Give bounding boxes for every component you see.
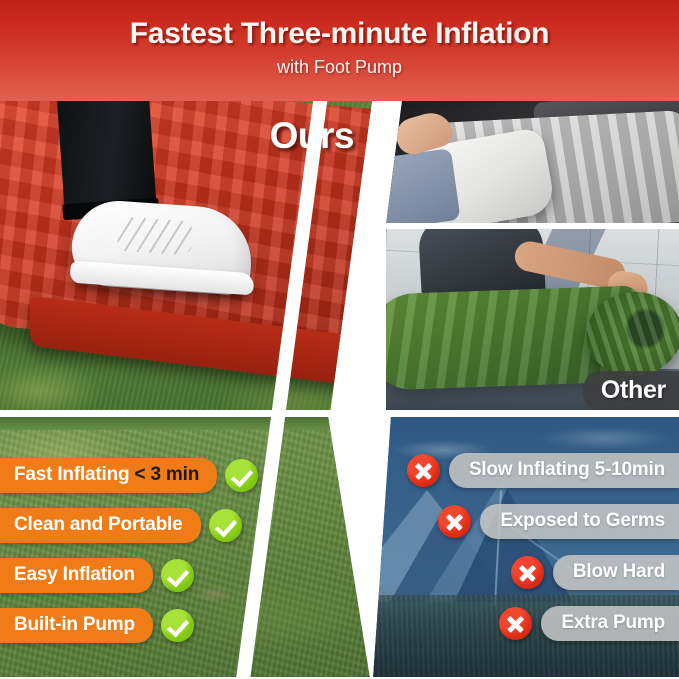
- comparison-infographic: Fastest Three-minute Inflation with Foot…: [0, 0, 679, 679]
- con-label-2: Exposed to Germs: [480, 504, 679, 539]
- person-jeans: [386, 148, 461, 225]
- pro-item-2[interactable]: Clean and Portable: [0, 508, 242, 543]
- con-item-4[interactable]: Extra Pump: [499, 606, 679, 641]
- panel-other-sleeping-bag: Other: [386, 228, 679, 413]
- con-label-4: Extra Pump: [541, 606, 679, 641]
- header-banner: Fastest Three-minute Inflation with Foot…: [0, 0, 679, 101]
- right-column-divider: [380, 223, 679, 229]
- check-icon: [225, 459, 258, 492]
- pro-accent-1: < 3 min: [135, 464, 200, 485]
- pro-text-1: Fast Inflating: [14, 464, 135, 485]
- horizontal-divider-right: [380, 410, 679, 417]
- con-label-1: Slow Inflating 5-10min: [449, 453, 679, 488]
- con-label-3: Blow Hard: [553, 555, 679, 590]
- cross-icon: [511, 556, 544, 589]
- pro-item-4[interactable]: Built-in Pump: [0, 608, 194, 643]
- pro-label-3: Easy Inflation: [0, 558, 153, 593]
- pro-item-1[interactable]: Fast Inflating < 3 min: [0, 458, 258, 493]
- check-icon: [161, 559, 194, 592]
- con-item-1[interactable]: Slow Inflating 5-10min: [407, 453, 679, 488]
- con-item-3[interactable]: Blow Hard: [511, 555, 679, 590]
- pro-label-1: Fast Inflating < 3 min: [0, 458, 217, 493]
- check-icon: [209, 509, 242, 542]
- pro-text-4: Built-in Pump: [14, 614, 135, 635]
- pro-item-3[interactable]: Easy Inflation: [0, 558, 194, 593]
- check-icon: [161, 609, 194, 642]
- horizontal-divider-left: [0, 410, 388, 417]
- sneaker-laces: [117, 216, 193, 255]
- panel-cons: Slow Inflating 5-10min Exposed to Germs …: [373, 416, 679, 679]
- cross-icon: [407, 454, 440, 487]
- page-subtitle: with Foot Pump: [0, 57, 679, 78]
- cross-icon: [438, 505, 471, 538]
- pro-label-2: Clean and Portable: [0, 508, 201, 543]
- grass-top-strip: [0, 416, 370, 430]
- panel-pros: Fast Inflating < 3 min Clean and Portabl…: [0, 416, 370, 679]
- panel-grid: Ours Other Fast In: [0, 101, 679, 679]
- con-item-2[interactable]: Exposed to Germs: [438, 504, 679, 539]
- panel-other-car-mattress: [386, 101, 679, 225]
- page-title: Fastest Three-minute Inflation: [0, 17, 679, 51]
- other-label: Other: [583, 371, 679, 411]
- pro-text-2: Clean and Portable: [14, 514, 183, 535]
- cross-icon: [499, 607, 532, 640]
- pro-text-3: Easy Inflation: [14, 564, 135, 585]
- pro-label-4: Built-in Pump: [0, 608, 153, 643]
